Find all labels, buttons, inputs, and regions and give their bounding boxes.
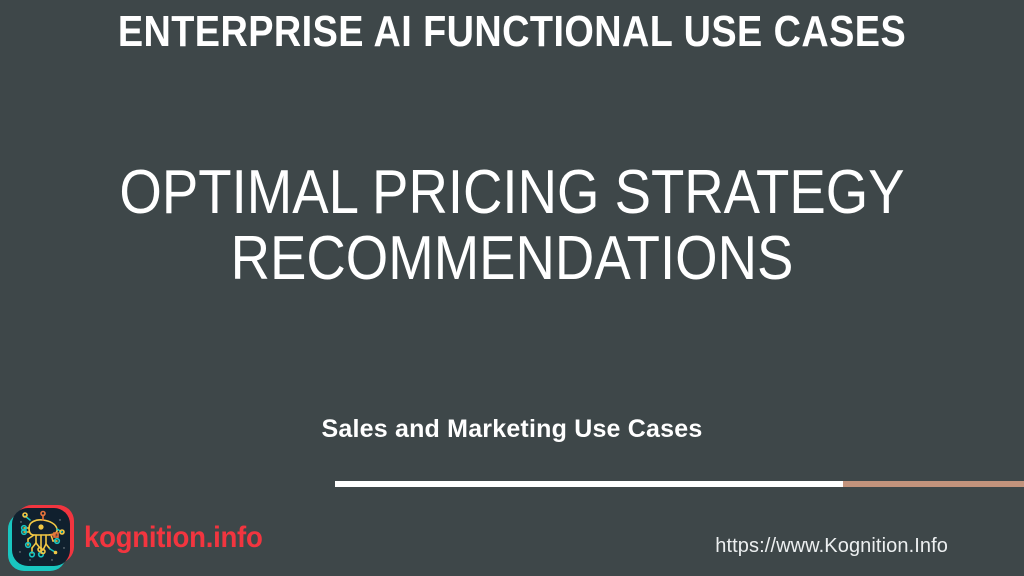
logo-plate: [12, 508, 70, 566]
slide-subtitle: Sales and Marketing Use Cases: [0, 415, 1024, 444]
circuit-brain-artwork: [12, 508, 70, 566]
slide-eyebrow-header: ENTERPRISE AI FUNCTIONAL USE CASES: [72, 8, 953, 56]
divider-segment-white: [335, 481, 843, 487]
logo-wordmark: kognition.info: [84, 521, 263, 555]
slide-title: OPTIMAL PRICING STRATEGY RECOMMENDATIONS: [61, 160, 962, 292]
footer-url[interactable]: https://www.Kognition.Info: [715, 535, 948, 558]
slide-title-line-2: RECOMMENDATIONS: [61, 226, 962, 292]
title-divider: [335, 481, 1024, 487]
circuit-brain-icon: [8, 505, 74, 571]
divider-segment-accent: [843, 481, 1024, 487]
brand-logo[interactable]: kognition.info: [8, 505, 278, 571]
slide-title-line-1: OPTIMAL PRICING STRATEGY: [61, 160, 962, 226]
presentation-slide: ENTERPRISE AI FUNCTIONAL USE CASES OPTIM…: [0, 0, 1024, 576]
